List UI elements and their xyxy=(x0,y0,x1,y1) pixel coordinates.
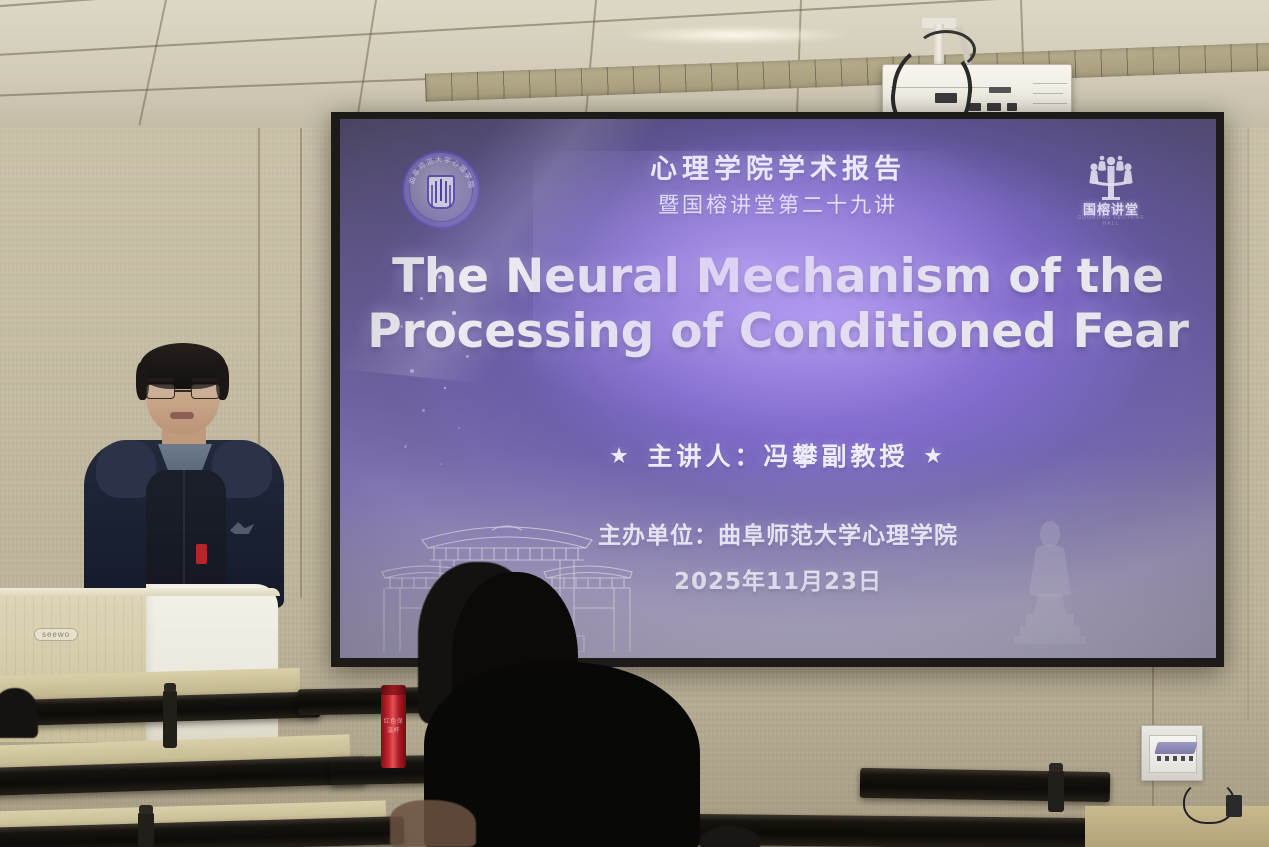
fluorescent-light-panel xyxy=(425,42,1269,101)
projector-label-line xyxy=(1033,103,1067,104)
slide-title: The Neural Mechanism of the Processing o… xyxy=(340,250,1216,359)
audience-person-hand xyxy=(390,800,476,847)
presenter-brow-left xyxy=(148,378,174,382)
slide-cn-subheading: 暨国榕讲堂第二十九讲 xyxy=(340,189,1216,219)
wall-seam-far-right xyxy=(1247,100,1249,720)
statue-silhouette-graphic xyxy=(1002,518,1098,644)
power-plug xyxy=(1226,795,1242,817)
av-wall-plate-lid xyxy=(1154,742,1197,754)
projector-cable-loop xyxy=(916,30,976,70)
ceiling-grid-line xyxy=(138,0,167,125)
slide-cn-heading: 心理学院学术报告 xyxy=(340,147,1216,186)
av-wall-plate-jacks xyxy=(1157,756,1193,761)
presenter-person xyxy=(84,348,284,608)
desk-front-row-far-right xyxy=(860,768,1110,802)
glasses-lens-left xyxy=(146,384,175,399)
presenter-glasses-icon xyxy=(146,384,220,399)
presenter-brow-right xyxy=(192,378,218,382)
lecture-hall-scene: 曲阜师范大学心理学院 xyxy=(0,0,1269,847)
audience-person-far-left xyxy=(0,688,38,738)
wall-seam-mid xyxy=(300,128,302,598)
projector-port-usb xyxy=(1007,103,1017,111)
projector-port-hdmi xyxy=(987,103,1001,111)
projector-button-row xyxy=(989,87,1011,93)
projector-port-lan xyxy=(969,103,981,111)
presenter-mouth xyxy=(170,412,194,419)
light-glow xyxy=(620,26,850,44)
projector-label-line xyxy=(1033,83,1067,84)
av-wall-plate-inner xyxy=(1149,735,1197,773)
av-wall-plate xyxy=(1141,725,1203,781)
star-icon-right: ★ xyxy=(925,445,946,467)
slide-presenter-name: 主讲人：冯攀副教授 xyxy=(647,442,908,471)
slide-title-line2: Processing of Conditioned Fear xyxy=(340,305,1216,360)
light-panel-grid xyxy=(425,42,1269,101)
desk-divider-post1 xyxy=(163,690,177,748)
projector-label-line xyxy=(1033,93,1063,94)
glasses-lens-right xyxy=(191,384,220,399)
podium-brand-badge: seewo xyxy=(34,628,78,641)
star-icon-left: ★ xyxy=(610,445,631,467)
presenter-red-accent xyxy=(196,544,207,564)
ceiling-grid-line xyxy=(584,0,597,128)
thermos-bottle: 红色保温杯 xyxy=(381,692,406,768)
thermos-cap xyxy=(381,685,406,695)
ceiling-grid-line xyxy=(355,0,377,127)
glasses-bridge xyxy=(175,390,191,392)
desk-divider-post2 xyxy=(138,812,154,847)
slide-title-line1: The Neural Mechanism of the xyxy=(392,249,1164,304)
thermos-label: 红色保温杯 xyxy=(381,716,406,734)
ceiling-tile-line xyxy=(0,0,1269,10)
podium-top-edge xyxy=(0,588,280,596)
slide-presenter-line: ★主讲人：冯攀副教授★ xyxy=(340,437,1216,473)
presenter-hair xyxy=(140,343,226,389)
desk-divider-post3 xyxy=(1048,770,1064,812)
